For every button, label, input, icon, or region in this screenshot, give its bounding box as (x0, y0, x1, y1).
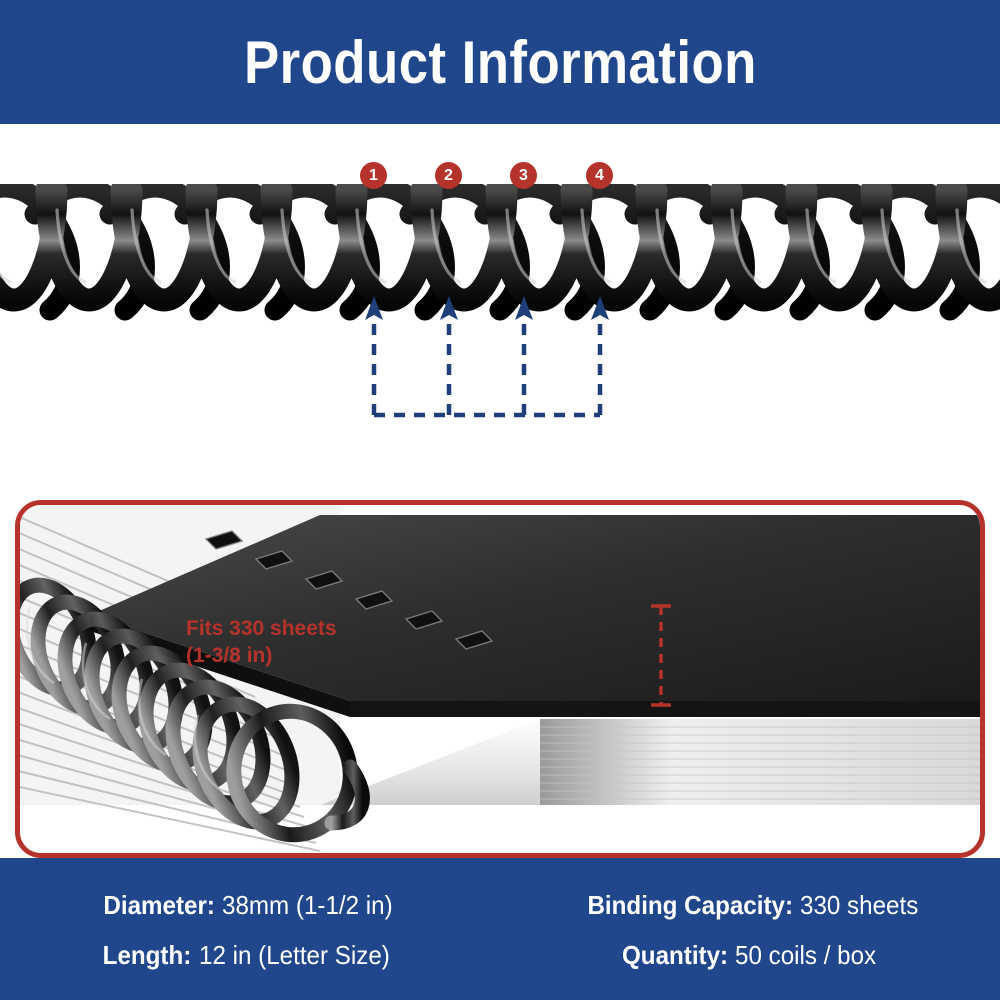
spec-length: Length: 12 in (Letter Size) (0, 940, 500, 971)
sheets-caption: Fits 330 sheets (1-3/8 in) (186, 615, 337, 670)
spec-quantity-label: Quantity: (622, 940, 728, 971)
spec-row-2: Length: 12 in (Letter Size) Quantity: 50… (0, 940, 1000, 971)
bound-book-panel: Fits 330 sheets (1-3/8 in) (15, 500, 985, 858)
spec-quantity: Quantity: 50 coils / box (500, 940, 1000, 971)
sheets-caption-line2: (1-3/8 in) (186, 642, 337, 669)
spec-binding-capacity: Binding Capacity: 330 sheets (500, 890, 1000, 921)
page-title: Product Information (244, 28, 757, 97)
specifications-footer (0, 858, 1000, 1000)
spec-quantity-value: 50 coils / box (735, 940, 876, 971)
spec-binding-capacity-value: 330 sheets (800, 890, 918, 921)
spec-diameter: Diameter: 38mm (1-1/2 in) (0, 890, 500, 921)
pitch-dimension-bracket (0, 124, 1000, 500)
spec-binding-capacity-label: Binding Capacity: (588, 890, 794, 921)
coil-illustration-section: 1 2 3 4 4:1 Pitch (4 holes per inch) (0, 124, 1000, 500)
spec-length-value: 12 in (Letter Size) (199, 940, 390, 971)
header-band: Product Information (0, 0, 1000, 124)
spec-diameter-value: 38mm (1-1/2 in) (222, 890, 393, 921)
sheets-caption-line1: Fits 330 sheets (186, 615, 337, 642)
spec-row-1: Diameter: 38mm (1-1/2 in) Binding Capaci… (0, 890, 1000, 921)
spec-length-label: Length: (103, 940, 192, 971)
spec-diameter-label: Diameter: (103, 890, 215, 921)
sheet-thickness-dimension-line (20, 505, 980, 853)
